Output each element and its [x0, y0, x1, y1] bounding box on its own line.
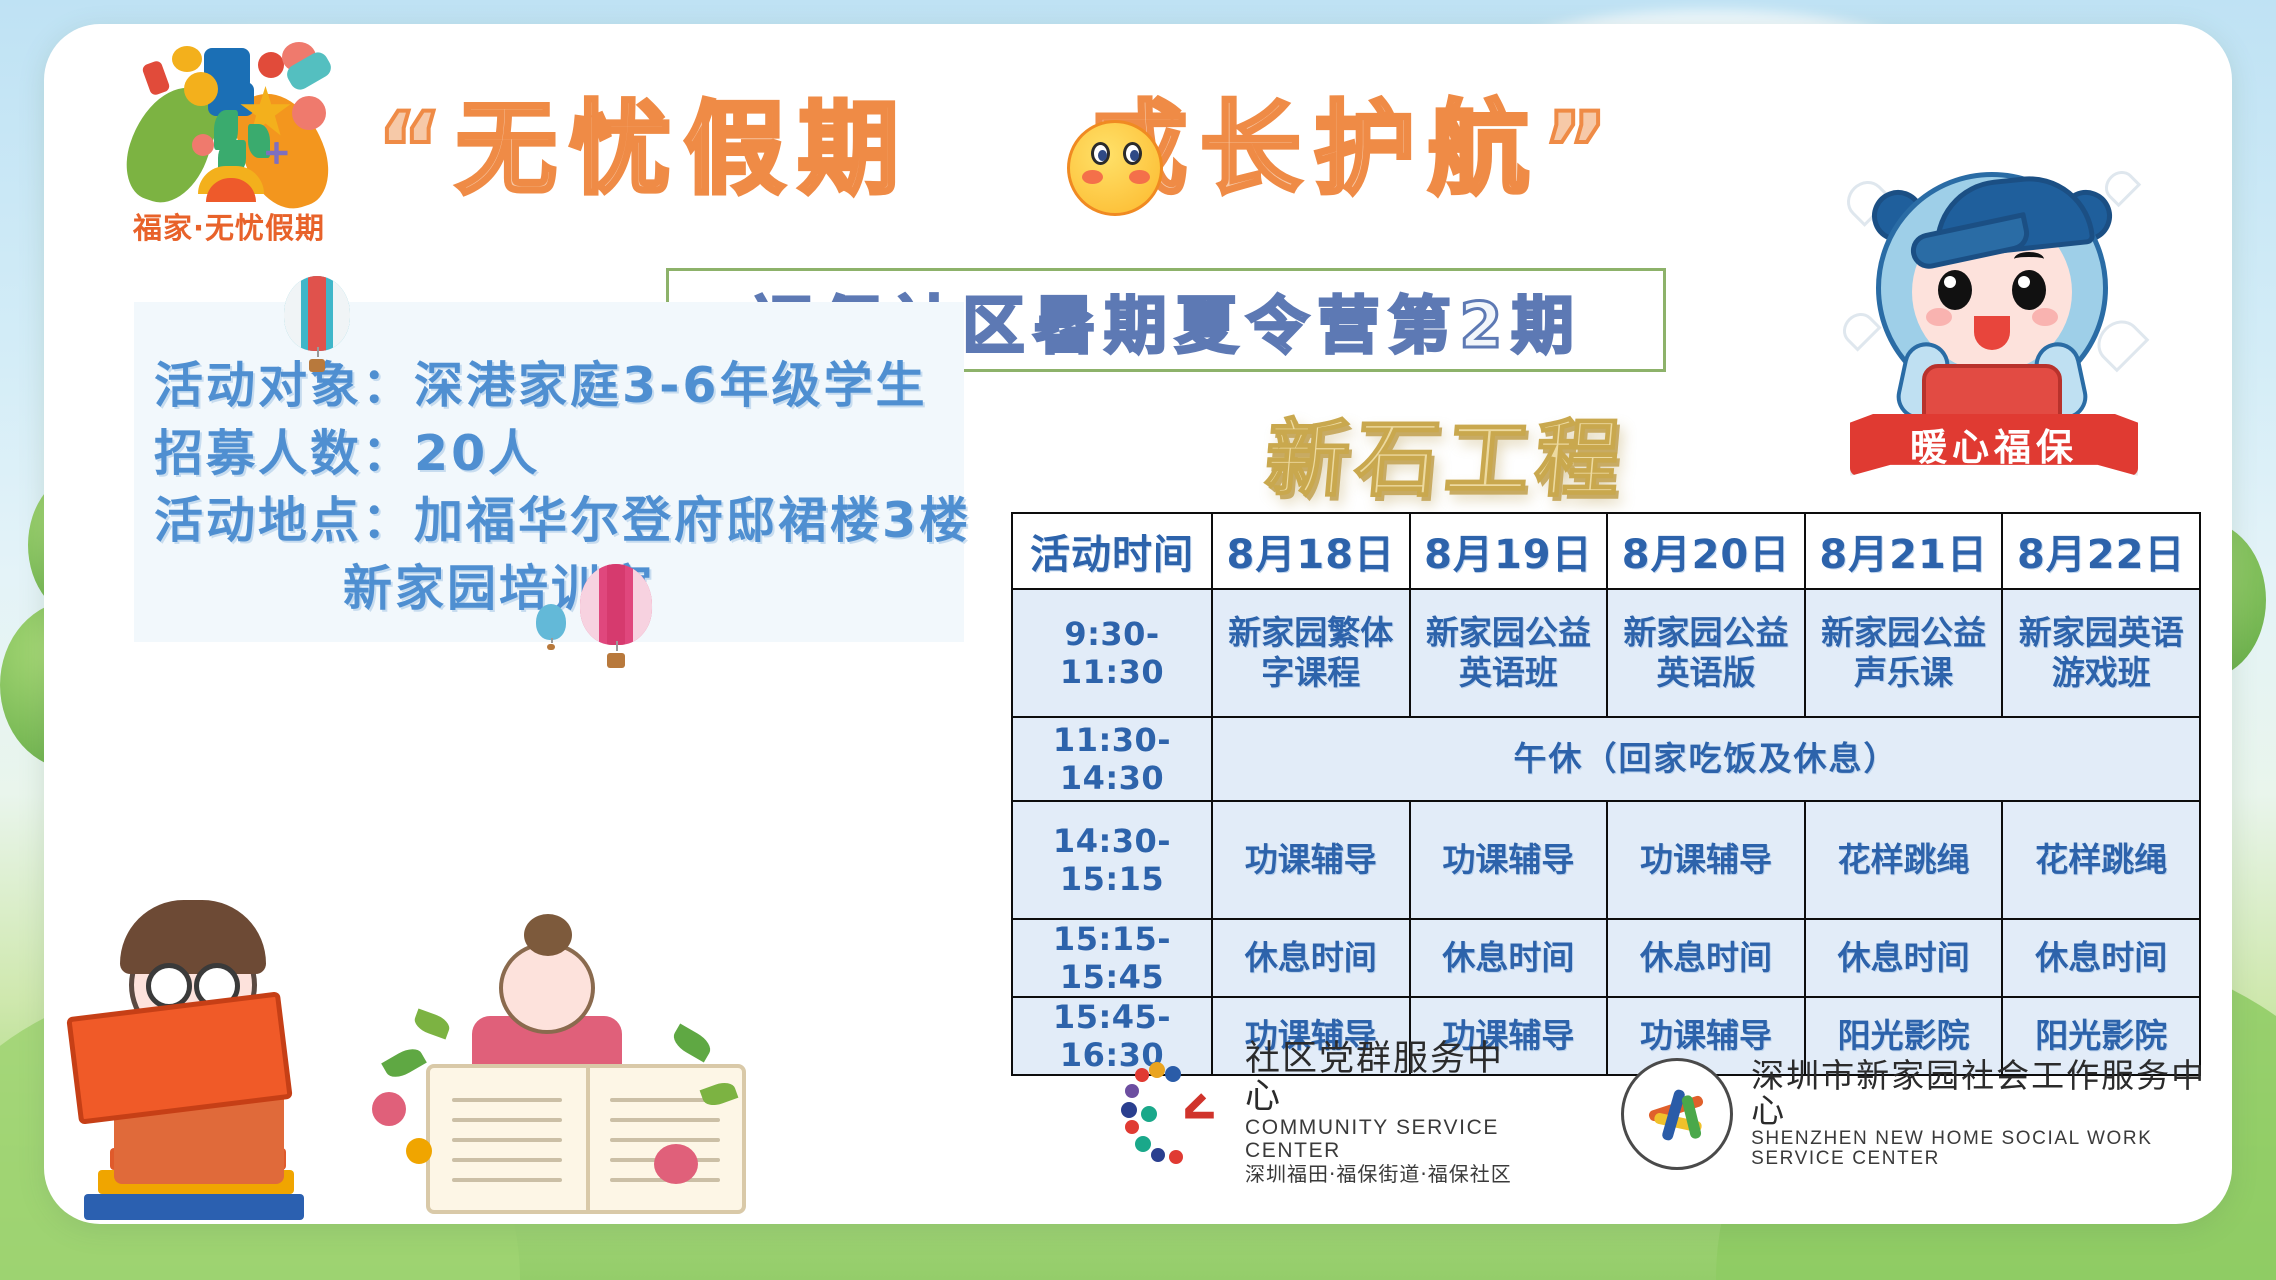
event-info: 活动对象：深港家庭3-6年级学生 招募人数：20人 活动地点：加福华尔登府邸裙楼… — [154, 352, 964, 622]
activity-cell: 休息时间 — [1410, 919, 1608, 997]
row-time: 11:30-14:30 — [1012, 717, 1212, 801]
program-name: 新石工程 — [1261, 392, 1632, 513]
hot-air-balloon-icon — [536, 604, 566, 650]
info-line-capacity: 招募人数：20人 — [154, 420, 964, 488]
children-reading-illustration — [54, 784, 754, 1224]
csc-name-en: COMMUNITY SERVICE CENTER — [1245, 1117, 1525, 1162]
activity-cell: 休息时间 — [2002, 919, 2200, 997]
csc-name-cn: 社区党群服务中心 — [1245, 1041, 1525, 1117]
activity-cell: 新家园公益英语班 — [1410, 589, 1608, 717]
table-header-row: 活动时间 8月18日 8月19日 8月20日 8月21日 8月22日 — [1012, 513, 2200, 589]
csc-logo-text: 社区党群服务中心 COMMUNITY SERVICE CENTER 深圳福田·福… — [1245, 1041, 1525, 1186]
table-header-day-4: 8月21日 — [1805, 513, 2003, 589]
nh-name-cn: 深圳市新家园社会工作服务中心 — [1751, 1058, 2232, 1129]
mascot-ribbon: 暖心福保 — [1850, 414, 2138, 476]
hot-air-balloon-icon — [580, 564, 652, 668]
footer-logos: 社区党群服务中心 COMMUNITY SERVICE CENTER 深圳福田·福… — [1119, 1041, 2232, 1186]
activity-cell: 新家园繁体字课程 — [1212, 589, 1410, 717]
mascot-ribbon-text: 暖心福保 — [1910, 417, 2078, 471]
brand-name: 福家·无忧假期 — [94, 205, 364, 247]
activity-cell: 新家园英语游戏班 — [2002, 589, 2200, 717]
community-heart-icon — [1119, 1060, 1227, 1168]
poster-card: 福家·无忧假期 “无忧假期 成长护航” 福保社区暑期夏令营第2期 新石工程 — [44, 24, 2232, 1224]
table-row: 9:30-11:30 新家园繁体字课程 新家园公益英语班 新家园公益英语版 新家… — [1012, 589, 2200, 717]
schedule-table: 活动时间 8月18日 8月19日 8月20日 8月21日 8月22日 9:30-… — [1011, 512, 2201, 1076]
activity-cell-lunch: 午休（回家吃饭及休息） — [1212, 717, 2200, 801]
community-service-center-logo: 社区党群服务中心 COMMUNITY SERVICE CENTER 深圳福田·福… — [1119, 1041, 1525, 1186]
activity-cell: 休息时间 — [1212, 919, 1410, 997]
info-line-audience: 活动对象：深港家庭3-6年级学生 — [154, 352, 964, 420]
nh-logo-text: 深圳市新家园社会工作服务中心 SHENZHEN NEW HOME SOCIAL … — [1751, 1058, 2232, 1170]
table-row: 14:30-15:15 功课辅导 功课辅导 功课辅导 花样跳绳 花样跳绳 — [1012, 801, 2200, 919]
new-home-circle-icon — [1621, 1058, 1733, 1170]
row-time: 15:15-15:45 — [1012, 919, 1212, 997]
table-row: 11:30-14:30 午休（回家吃饭及休息） — [1012, 717, 2200, 801]
table-header-day-1: 8月18日 — [1212, 513, 1410, 589]
csc-name-sub: 深圳福田·福保街道·福保社区 — [1245, 1164, 1525, 1186]
info-line-location: 活动地点：加福华尔登府邸裙楼3楼 — [154, 487, 964, 555]
activity-cell: 休息时间 — [1805, 919, 2003, 997]
activity-cell: 新家园公益英语版 — [1607, 589, 1805, 717]
activity-cell: 休息时间 — [1607, 919, 1805, 997]
sun-mascot-icon — [1049, 102, 1181, 234]
activity-cell: 新家园公益声乐课 — [1805, 589, 2003, 717]
activity-cell: 花样跳绳 — [1805, 801, 2003, 919]
table-header-day-2: 8月19日 — [1410, 513, 1608, 589]
activity-cell: 花样跳绳 — [2002, 801, 2200, 919]
table-row: 15:15-15:45 休息时间 休息时间 休息时间 休息时间 休息时间 — [1012, 919, 2200, 997]
heart-hands-icon — [122, 38, 337, 203]
activity-cell: 功课辅导 — [1607, 801, 1805, 919]
hot-air-balloon-icon — [284, 276, 350, 372]
fubao-mascot-icon: 暖心福保 — [1842, 142, 2142, 472]
brand-logo: 福家·无忧假期 — [94, 38, 364, 247]
row-time: 9:30-11:30 — [1012, 589, 1212, 717]
page-title: “无忧假期 成长护航” — [344, 88, 1654, 211]
table-header-day-5: 8月22日 — [2002, 513, 2200, 589]
activity-cell: 功课辅导 — [1212, 801, 1410, 919]
activity-cell: 功课辅导 — [1410, 801, 1608, 919]
table-header-day-3: 8月20日 — [1607, 513, 1805, 589]
row-time: 14:30-15:15 — [1012, 801, 1212, 919]
new-home-social-work-logo: 深圳市新家园社会工作服务中心 SHENZHEN NEW HOME SOCIAL … — [1621, 1058, 2232, 1170]
page-title-left: “无忧假期 — [377, 90, 912, 208]
nh-name-en: SHENZHEN NEW HOME SOCIAL WORK SERVICE CE… — [1751, 1129, 2232, 1170]
table-header-time: 活动时间 — [1012, 513, 1212, 589]
